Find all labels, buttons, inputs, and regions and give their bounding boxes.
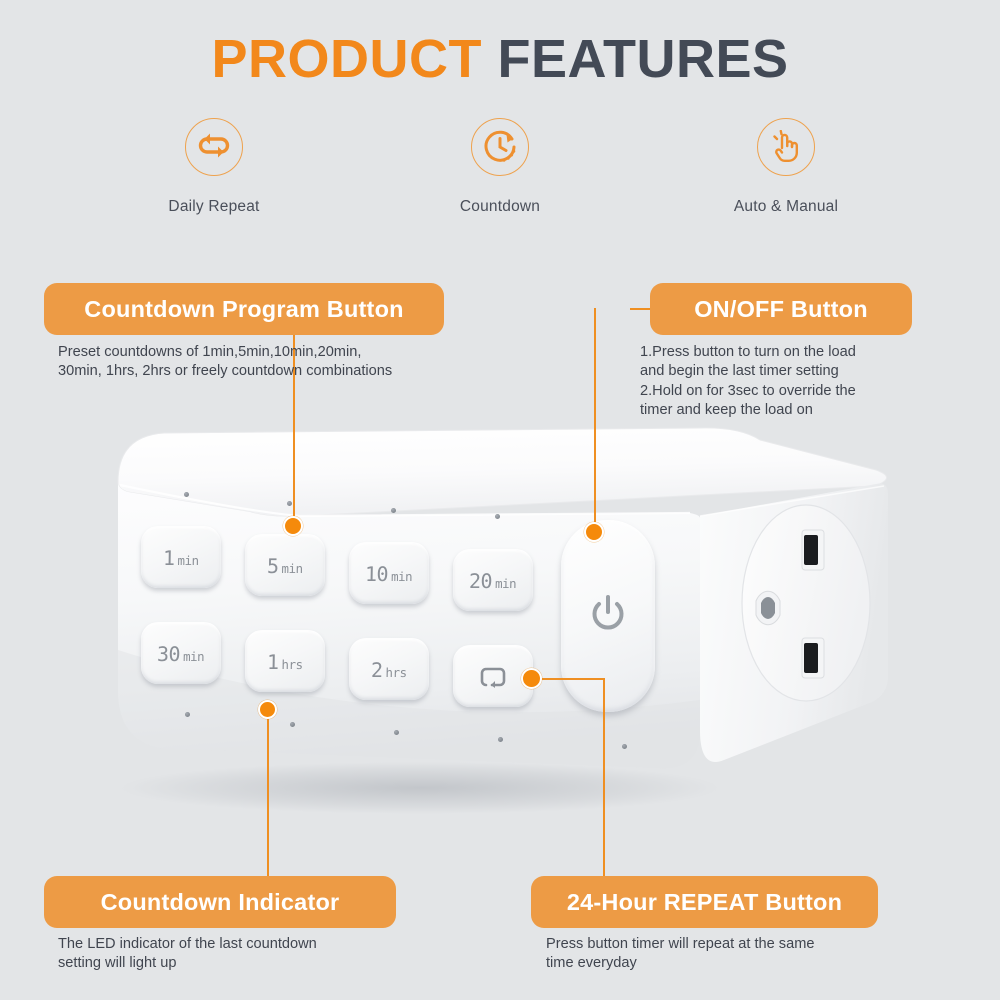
key-2-hrs[interactable]: 2 hrs [349,638,429,700]
leader-line-onoff-vertical [594,308,596,530]
key-label: 1 min [163,546,199,570]
led-indicator [622,744,627,749]
key-20-min[interactable]: 20 min [453,549,533,611]
led-indicator [185,712,190,717]
callout-title-countdown-indicator: Countdown Indicator [44,876,396,928]
callout-description-on-off: 1.Press button to turn on the load and b… [640,343,930,420]
hand-touch-icon [757,118,815,176]
power-button[interactable] [561,520,655,712]
repeat-arrows-icon [185,118,243,176]
key-1-min[interactable]: 1 min [141,526,221,588]
countdown-keypad: 1 min 5 min 10 min 20 min 30 [141,522,561,712]
leader-dot-repeat [521,668,542,689]
key-label: 30 min [157,642,205,666]
key-1-hrs[interactable]: 1 hrs [245,630,325,692]
leader-dot-countdown-program [283,516,303,536]
feature-label: Daily Repeat [129,198,299,216]
power-icon [589,594,627,639]
callout-description-countdown-program: Preset countdowns of 1min,5min,10min,20m… [58,343,478,382]
key-label: 2 hrs [371,658,407,682]
us-three-prong-outlet-icon [742,505,870,701]
feature-icon-row: Daily Repeat Countdown [0,118,1000,216]
key-10-min[interactable]: 10 min [349,542,429,604]
callout-title-24-hour-repeat: 24-Hour REPEAT Button [531,876,878,928]
key-label: 10 min [365,562,413,586]
callout-title-on-off: ON/OFF Button [650,283,912,335]
countdown-clock-icon [471,118,529,176]
key-30-min[interactable]: 30 min [141,622,221,684]
led-indicator [290,722,295,727]
leader-dot-countdown-indicator [258,700,277,719]
feature-countdown: Countdown [415,118,585,216]
led-indicator [498,737,503,742]
led-indicator [391,508,396,513]
key-5-min[interactable]: 5 min [245,534,325,596]
feature-label: Auto & Manual [701,198,871,216]
led-indicator [287,501,292,506]
page-title-dark: FEATURES [498,29,789,89]
callout-description-24-hour-repeat: Press button timer will repeat at the sa… [546,935,946,974]
key-label: 5 min [267,554,303,578]
led-indicator [394,730,399,735]
callout-title-countdown-program: Countdown Program Button [44,283,444,335]
leader-line-repeat-horizontal [537,678,605,680]
leader-line-countdown-indicator [267,708,269,878]
led-indicator [495,514,500,519]
key-label: 20 min [469,569,517,593]
leader-dot-onoff [584,522,604,542]
led-indicator [184,492,189,497]
page-title-orange: PRODUCT [211,29,482,89]
page-title: PRODUCT FEATURES [0,28,1000,90]
feature-label: Countdown [415,198,585,216]
feature-daily-repeat: Daily Repeat [129,118,299,216]
product-device-illustration: 1 min 5 min 10 min 20 min 30 [0,400,1000,840]
feature-auto-manual: Auto & Manual [701,118,871,216]
leader-line-repeat-vertical [603,680,605,878]
key-label: 1 hrs [267,650,303,674]
repeat-loop-icon [478,665,508,689]
callout-description-countdown-indicator: The LED indicator of the last countdown … [58,935,458,974]
